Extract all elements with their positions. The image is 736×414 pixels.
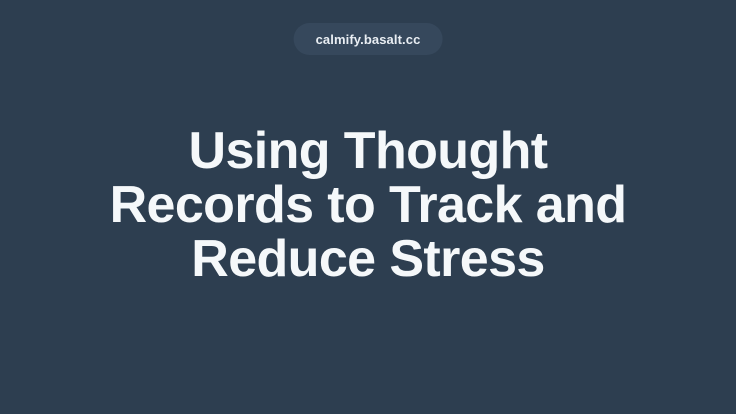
title-line-1: Using Thought (68, 124, 668, 178)
title-line-3: Reduce Stress (68, 232, 668, 286)
title-heading: Using Thought Records to Track and Reduc… (68, 124, 668, 286)
title-card: calmify.basalt.cc Using Thought Records … (0, 0, 736, 414)
page-title: Using Thought Records to Track and Reduc… (68, 124, 668, 286)
domain-badge-label: calmify.basalt.cc (316, 33, 421, 46)
domain-badge: calmify.basalt.cc (294, 23, 443, 55)
title-line-2: Records to Track and (68, 178, 668, 232)
